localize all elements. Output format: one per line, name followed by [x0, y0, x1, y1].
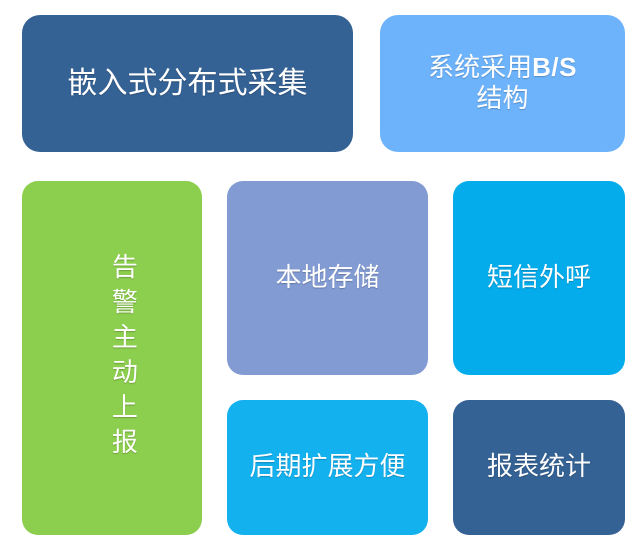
tile-label: 嵌入式分布式采集 [62, 66, 314, 101]
tile-label-line2: 结构 [476, 84, 528, 113]
tile-sms-outcall[interactable]: 短信外呼 [453, 181, 625, 375]
tile-label: 后期扩展方便 [243, 452, 411, 483]
tile-label-vertical: 告警主动上报 [107, 253, 138, 463]
tile-label-bold-bs: B/S [532, 52, 577, 82]
diagram-canvas: 嵌入式分布式采集 系统采用B/S结构 告警主动上报 本地存储 短信外呼 后期扩展… [0, 0, 640, 551]
tile-label-prefix: 系统采用 [428, 53, 532, 82]
tile-label: 报表统计 [481, 452, 597, 483]
tile-future-expansion-convenient[interactable]: 后期扩展方便 [227, 400, 428, 535]
tile-bs-architecture[interactable]: 系统采用B/S结构 [380, 15, 625, 152]
tile-alarm-active-report[interactable]: 告警主动上报 [22, 181, 202, 535]
tile-embedded-distributed-collection[interactable]: 嵌入式分布式采集 [22, 15, 353, 152]
tile-local-storage[interactable]: 本地存储 [227, 181, 428, 375]
tile-label: 系统采用B/S结构 [422, 52, 583, 114]
tile-report-statistics[interactable]: 报表统计 [453, 400, 625, 535]
tile-label: 本地存储 [269, 263, 385, 294]
tile-label: 短信外呼 [481, 263, 597, 294]
